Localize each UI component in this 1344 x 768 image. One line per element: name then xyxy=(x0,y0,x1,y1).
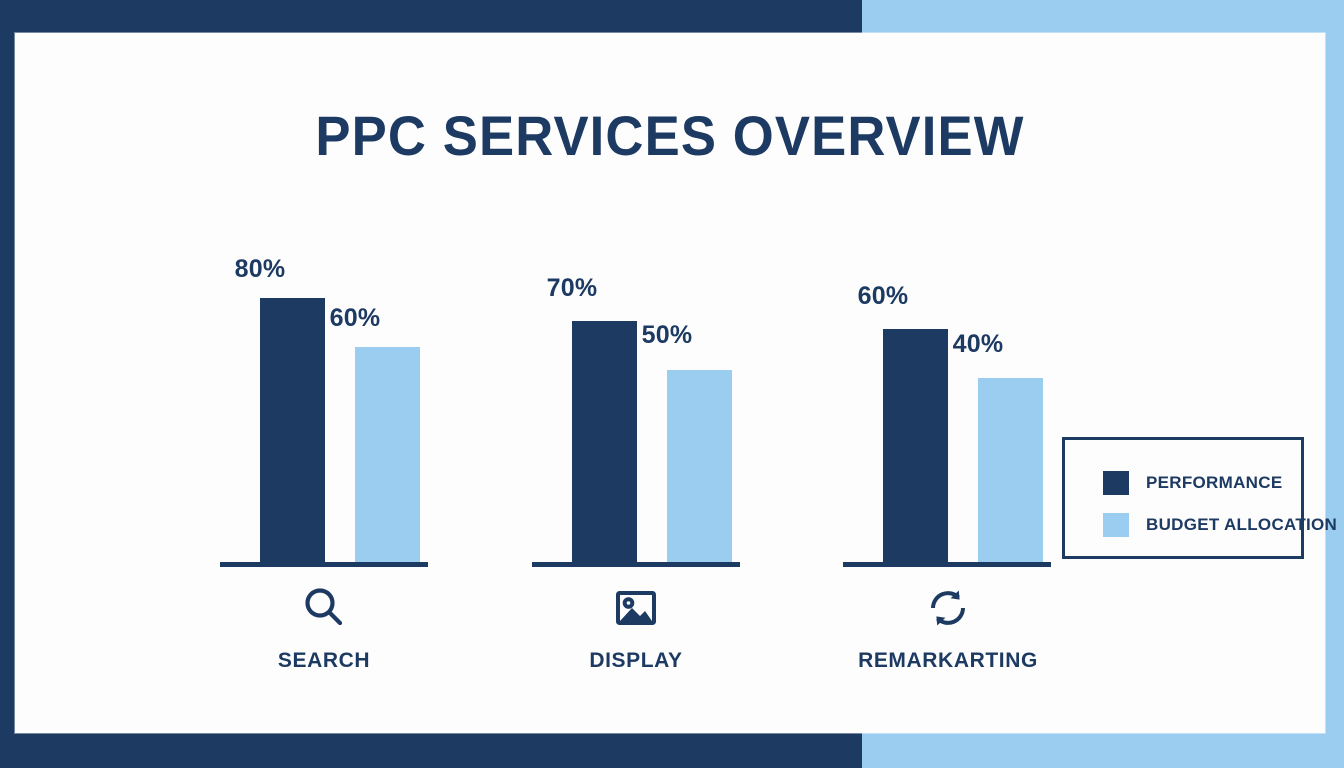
legend-label: BUDGET ALLOCATION xyxy=(1146,515,1337,535)
slide-card: PPC SERVICES OVERVIEW 80% 60% 70% 50% xyxy=(15,33,1325,733)
legend-label: PERFORMANCE xyxy=(1146,473,1282,493)
image-icon xyxy=(613,585,659,631)
category-label: SEARCH xyxy=(204,649,444,673)
bar-search-performance[interactable] xyxy=(260,298,325,562)
bar-value-remarkarting-performance: 60% xyxy=(823,282,943,311)
legend-swatch-performance xyxy=(1103,471,1129,495)
bar-value-display-budget: 50% xyxy=(607,321,727,350)
category-search[interactable]: SEARCH xyxy=(204,585,444,673)
group-baseline xyxy=(532,562,740,567)
slide-canvas: PPC SERVICES OVERVIEW 80% 60% 70% 50% xyxy=(0,0,1344,768)
bar-display-performance[interactable] xyxy=(572,321,637,562)
bar-value-search-budget: 60% xyxy=(295,304,415,333)
chart-legend: PERFORMANCE BUDGET ALLOCATION xyxy=(1062,437,1304,559)
category-label: REMARKARTING xyxy=(828,649,1068,673)
bar-chart: 80% 60% 70% 50% 60% 40% xyxy=(15,33,1325,733)
category-label: DISPLAY xyxy=(516,649,756,673)
bar-remarkarting-performance[interactable] xyxy=(883,329,948,562)
bar-search-budget[interactable] xyxy=(355,347,420,562)
legend-swatch-budget-allocation xyxy=(1103,513,1129,537)
search-icon xyxy=(301,585,347,631)
group-baseline xyxy=(220,562,428,567)
category-remarkarting[interactable]: REMARKARTING xyxy=(828,585,1068,673)
bar-remarkarting-budget[interactable] xyxy=(978,378,1043,562)
legend-item-performance[interactable]: PERFORMANCE xyxy=(1103,471,1282,495)
bar-display-budget[interactable] xyxy=(667,370,732,562)
bar-value-search-performance: 80% xyxy=(200,255,320,284)
legend-item-budget-allocation[interactable]: BUDGET ALLOCATION xyxy=(1103,513,1337,537)
bar-value-display-performance: 70% xyxy=(512,274,632,303)
bar-value-remarkarting-budget: 40% xyxy=(918,330,1038,359)
category-display[interactable]: DISPLAY xyxy=(516,585,756,673)
group-baseline xyxy=(843,562,1051,567)
refresh-cycle-icon xyxy=(925,585,971,631)
